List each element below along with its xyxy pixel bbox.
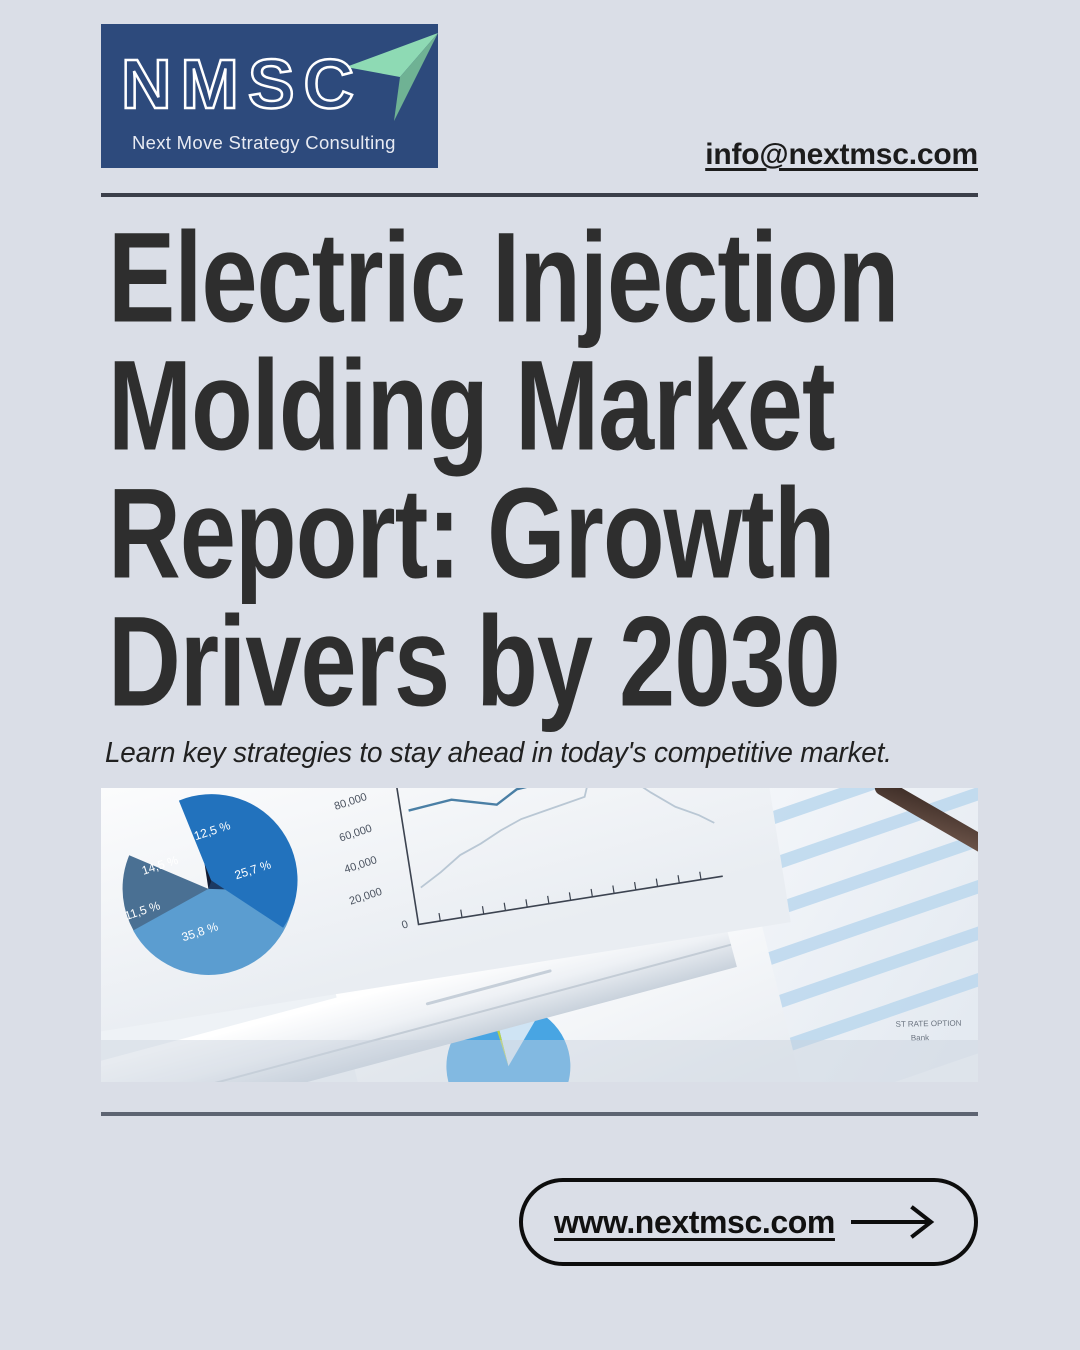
- logo-tagline: Next Move Strategy Consulting: [132, 132, 396, 154]
- rate-option-label: ST RATE OPTION: [895, 1019, 961, 1029]
- title-line-3: Report: Growth: [108, 461, 918, 607]
- title-line-1: Electric Injection: [108, 205, 918, 351]
- page-subtitle: Learn key strategies to stay ahead in to…: [105, 737, 892, 770]
- website-button[interactable]: www.nextmsc.com: [519, 1178, 978, 1266]
- title-line-2: Molding Market: [108, 333, 918, 479]
- hero-photo: 2,649 44,178 26,329 40,328 6,908 91,98 7…: [101, 788, 978, 1082]
- social-card: NMSC Next Move Strategy Consulting info@…: [0, 0, 1080, 1350]
- website-url-label: www.nextmsc.com: [554, 1204, 835, 1241]
- divider-top: [101, 193, 978, 197]
- logo-wordmark: NMSC: [121, 48, 371, 120]
- business-charts-photograph: 2,649 44,178 26,329 40,328 6,908 91,98 7…: [101, 788, 978, 1082]
- arrow-right-icon: [851, 1205, 943, 1239]
- title-line-4: Drivers by 2030: [108, 589, 918, 735]
- contact-email[interactable]: info@nextmsc.com: [705, 138, 978, 172]
- divider-bottom: [101, 1112, 978, 1116]
- page-title: Electric Injection Molding Market Report…: [108, 205, 1008, 717]
- brand-logo[interactable]: NMSC Next Move Strategy Consulting: [101, 24, 438, 168]
